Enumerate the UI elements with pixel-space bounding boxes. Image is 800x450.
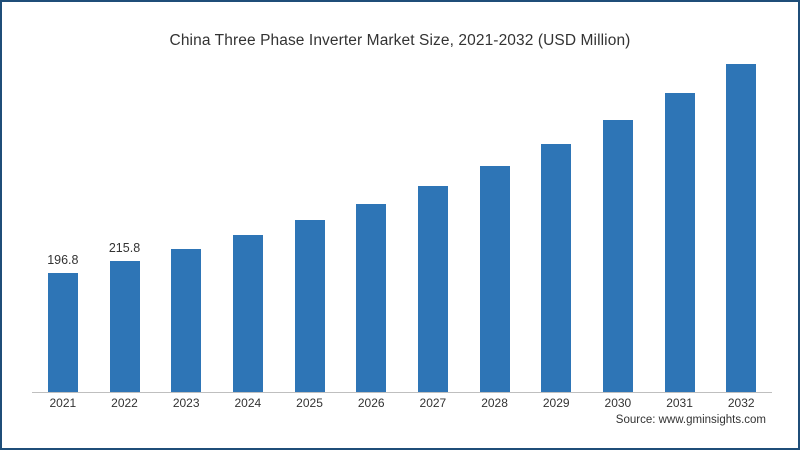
bar[interactable]: [110, 261, 140, 392]
bar[interactable]: [665, 93, 695, 392]
bar-slot: [710, 64, 772, 392]
chart-figure: China Three Phase Inverter Market Size, …: [0, 0, 800, 450]
bar[interactable]: [418, 186, 448, 392]
x-tick-label: 2027: [402, 396, 464, 410]
bar[interactable]: [603, 120, 633, 392]
x-axis-tick-labels: 2021 2022 2023 2024 2025 2026 2027 2028 …: [32, 396, 772, 410]
bar-slot: [279, 64, 341, 392]
x-tick-label: 2030: [587, 396, 649, 410]
bar-slot: [464, 64, 526, 392]
bar-series: 196.8 215.8: [32, 64, 772, 392]
x-tick-label: 2023: [155, 396, 217, 410]
bar-slot: 215.8: [94, 64, 156, 392]
bar-slot: [155, 64, 217, 392]
bar[interactable]: [171, 249, 201, 392]
bar[interactable]: [295, 220, 325, 392]
bar[interactable]: [48, 273, 78, 392]
x-tick-label: 2028: [464, 396, 526, 410]
bar-slot: [217, 64, 279, 392]
bar-slot: [649, 64, 711, 392]
x-tick-label: 2026: [340, 396, 402, 410]
plot-area: 196.8 215.8: [32, 64, 772, 392]
bar[interactable]: [541, 144, 571, 392]
chart-title: China Three Phase Inverter Market Size, …: [2, 32, 798, 50]
bar-slot: [525, 64, 587, 392]
bar[interactable]: [233, 235, 263, 392]
bar-slot: [340, 64, 402, 392]
source-attribution: Source: www.gminsights.com: [616, 414, 766, 426]
bar[interactable]: [356, 204, 386, 392]
x-tick-label: 2031: [649, 396, 711, 410]
bar-value-label: 215.8: [94, 241, 156, 255]
bar-slot: [587, 64, 649, 392]
x-tick-label: 2022: [94, 396, 156, 410]
x-tick-label: 2024: [217, 396, 279, 410]
bar-value-label: 196.8: [32, 253, 94, 267]
bar-slot: 196.8: [32, 64, 94, 392]
bar-slot: [402, 64, 464, 392]
x-tick-label: 2025: [279, 396, 341, 410]
x-tick-label: 2029: [525, 396, 587, 410]
x-tick-label: 2032: [710, 396, 772, 410]
x-tick-label: 2021: [32, 396, 94, 410]
bar[interactable]: [726, 64, 756, 392]
bar[interactable]: [480, 166, 510, 392]
x-axis-line: [32, 392, 772, 393]
